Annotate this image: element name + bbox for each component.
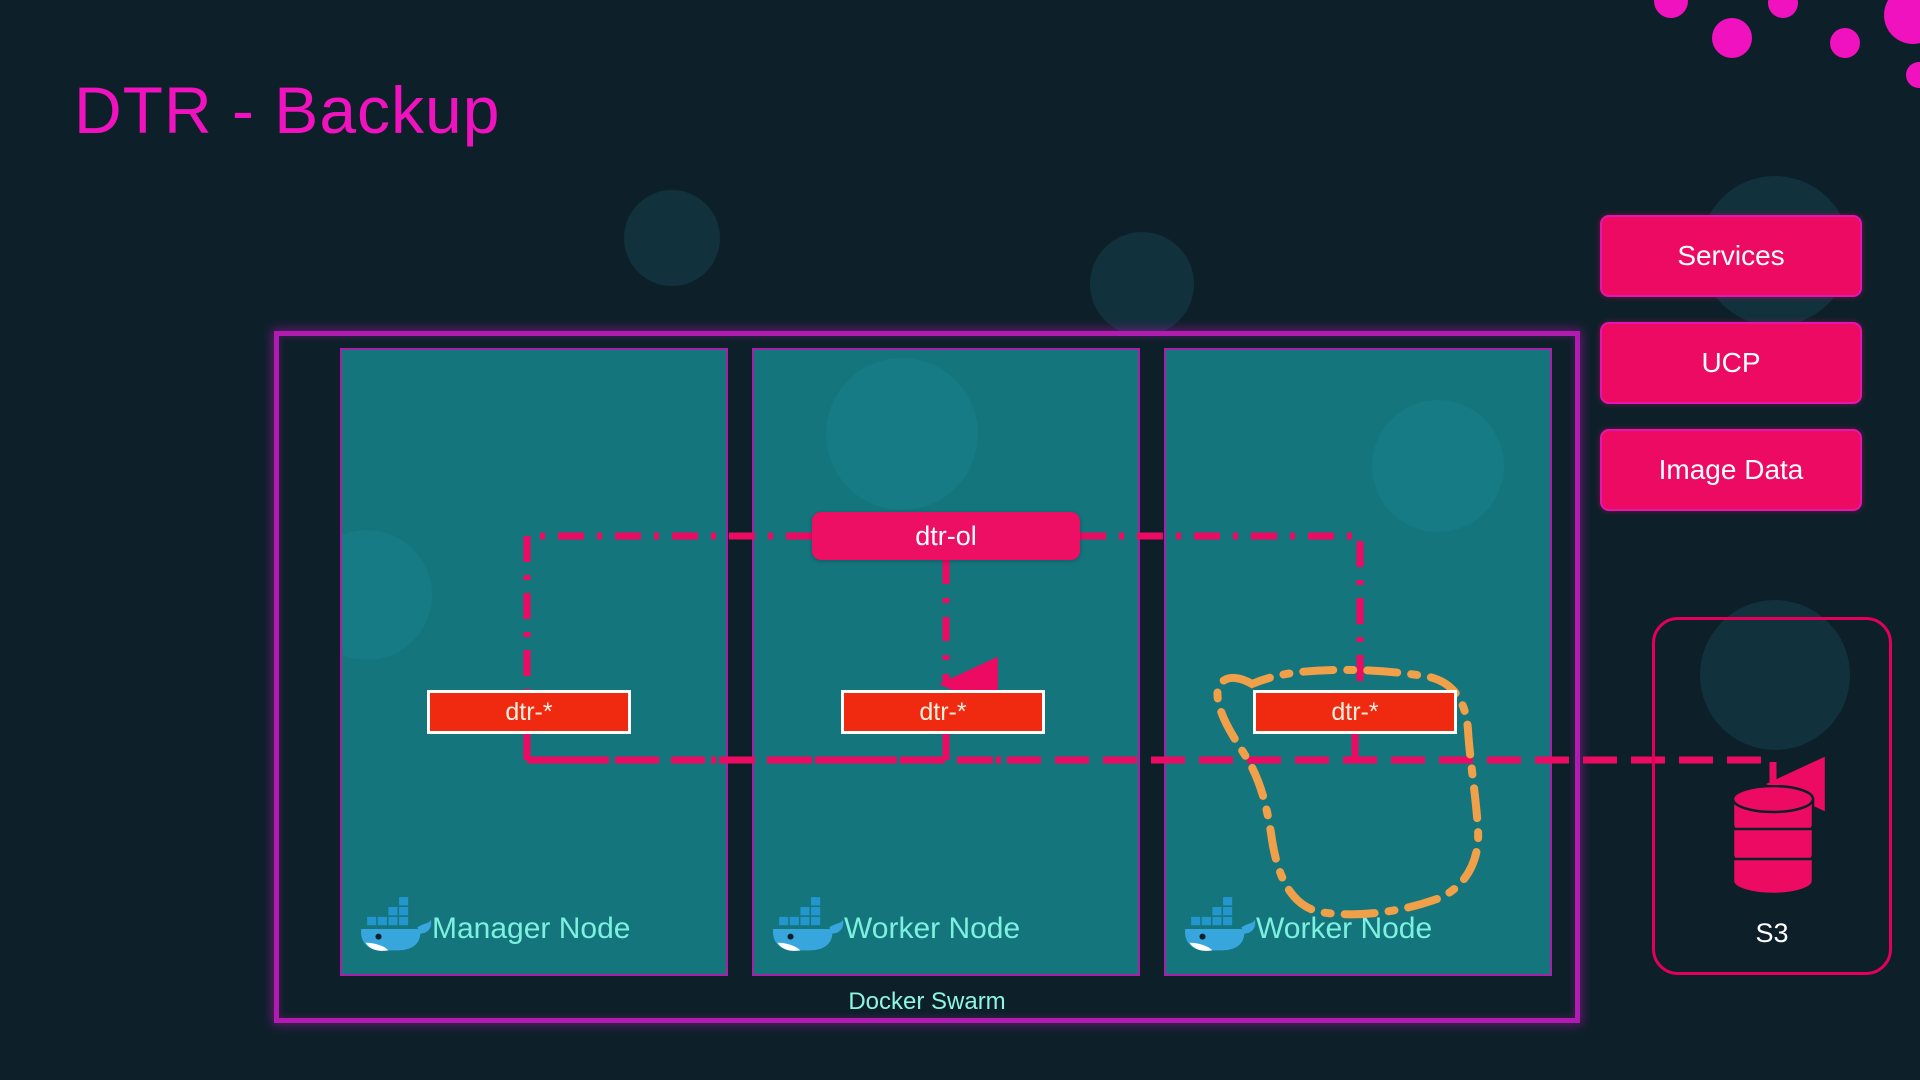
service-box-manager[interactable]: dtr-*: [427, 690, 631, 734]
node-panel-manager[interactable]: Manager Node: [340, 348, 728, 976]
decor-dot: [1654, 0, 1688, 18]
decor-soft-circle: [340, 530, 432, 660]
node-label: Manager Node: [432, 912, 630, 946]
decor-dot: [1768, 0, 1798, 18]
node-footer: Worker Node: [770, 897, 1020, 960]
node-panel-worker-2[interactable]: Worker Node: [1164, 348, 1552, 976]
slide-title: DTR - Backup: [74, 72, 500, 148]
decor-dot: [1712, 18, 1752, 58]
legend-item-image-data[interactable]: Image Data: [1600, 429, 1862, 511]
docker-whale-icon: [1182, 897, 1258, 960]
node-label: Worker Node: [844, 912, 1020, 946]
legend-item-ucp[interactable]: UCP: [1600, 322, 1862, 404]
node-footer: Worker Node: [1182, 897, 1432, 960]
decor-soft-circle: [826, 358, 978, 510]
node-panel-worker-1[interactable]: Worker Node: [752, 348, 1140, 976]
node-footer: Manager Node: [358, 897, 630, 960]
service-box-worker-2[interactable]: dtr-*: [1253, 690, 1457, 734]
decor-dot: [1906, 62, 1920, 88]
service-box-worker-1[interactable]: dtr-*: [841, 690, 1045, 734]
decor-dot: [1884, 0, 1920, 44]
s3-label: S3: [1652, 918, 1892, 949]
decor-dot: [1830, 28, 1860, 58]
decor-soft-circle: [1090, 232, 1194, 336]
decor-soft-circle: [624, 190, 720, 286]
swarm-label: Docker Swarm: [274, 988, 1580, 1016]
docker-whale-icon: [358, 897, 434, 960]
legend-item-services[interactable]: Services: [1600, 215, 1862, 297]
node-label: Worker Node: [1256, 912, 1432, 946]
decor-soft-circle: [1372, 400, 1504, 532]
overlay-network-badge[interactable]: dtr-ol: [812, 512, 1080, 560]
database-cylinder-icon: [1730, 785, 1816, 893]
docker-whale-icon: [770, 897, 846, 960]
